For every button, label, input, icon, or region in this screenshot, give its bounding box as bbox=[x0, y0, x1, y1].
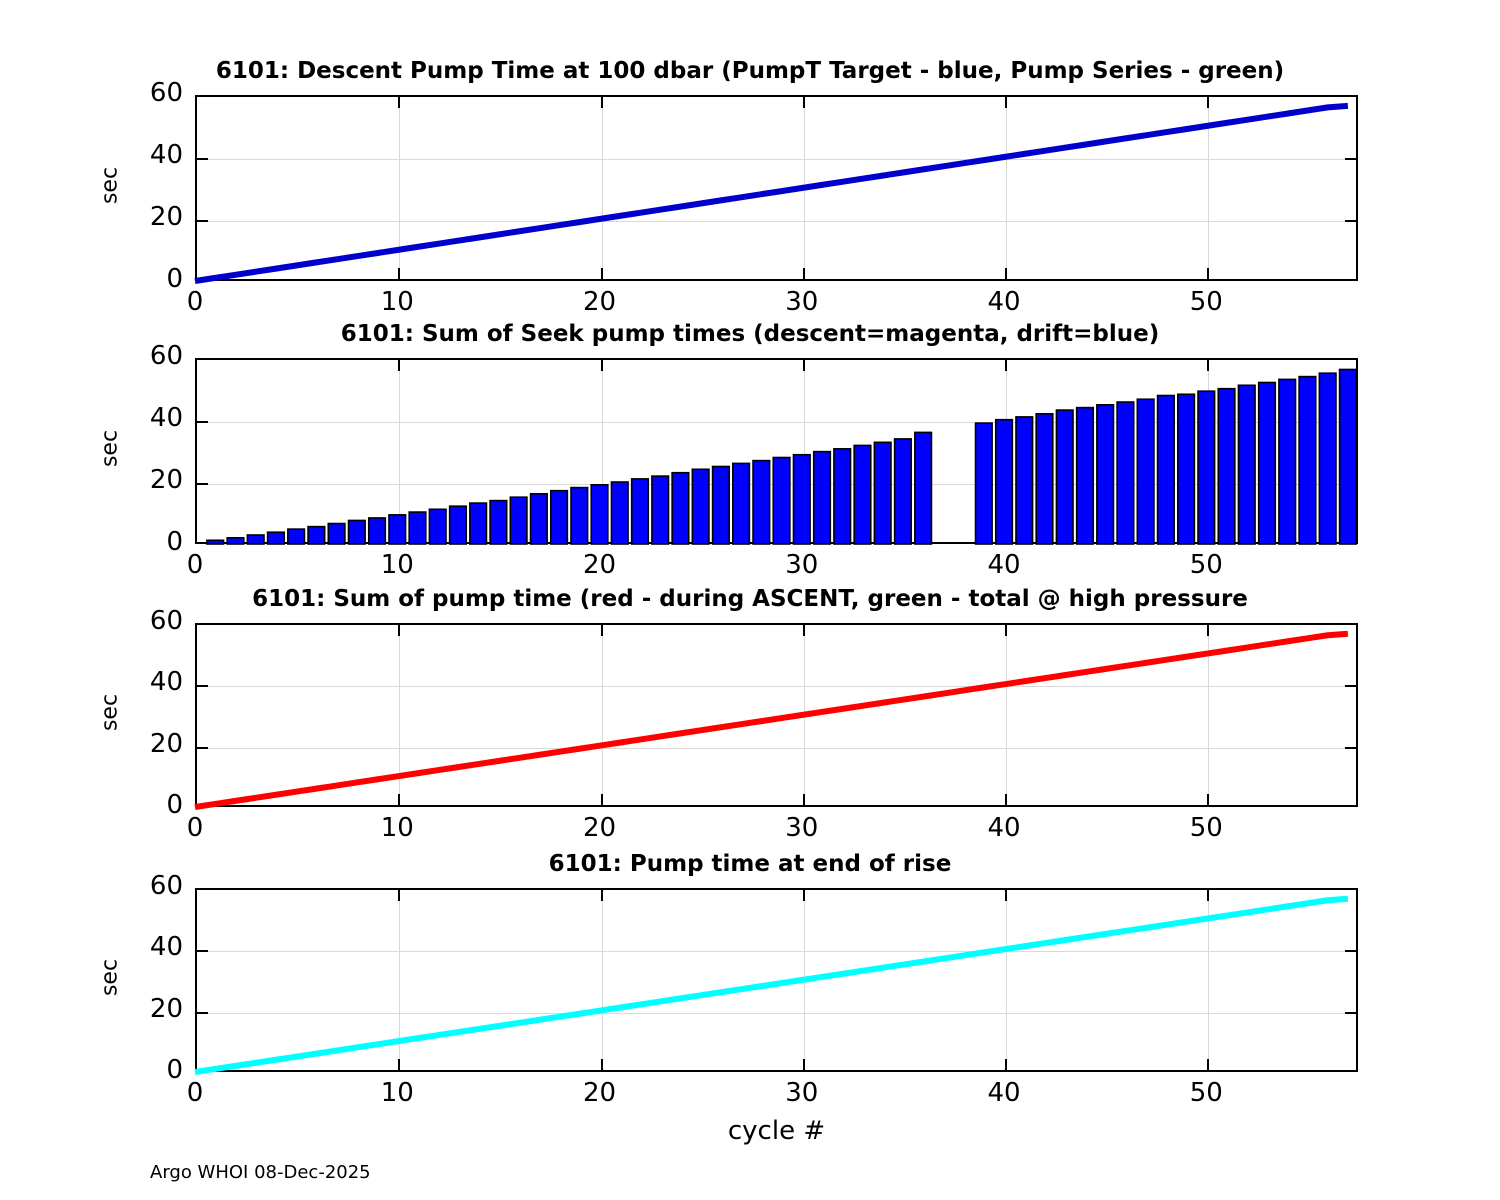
panel-2-title: 6101: Sum of Seek pump times (descent=ma… bbox=[0, 321, 1500, 347]
bar bbox=[814, 452, 831, 544]
bar bbox=[1299, 377, 1316, 544]
panel-3-ylabel: sec bbox=[98, 653, 123, 773]
bar bbox=[733, 463, 750, 544]
bar bbox=[692, 469, 709, 544]
bar bbox=[834, 449, 851, 544]
bar bbox=[247, 535, 264, 544]
bar bbox=[207, 540, 224, 544]
bar bbox=[1279, 379, 1296, 544]
panel-4-plot-area bbox=[195, 888, 1358, 1072]
panel-1-ylabel: sec bbox=[98, 126, 123, 246]
bar bbox=[793, 455, 810, 544]
ytick-label: 60 bbox=[95, 341, 183, 371]
bar bbox=[1319, 373, 1336, 544]
ytick-label: 60 bbox=[95, 78, 183, 108]
xtick-label: 10 bbox=[352, 287, 442, 317]
xtick-label: 20 bbox=[555, 287, 645, 317]
ytick-label: 60 bbox=[95, 606, 183, 636]
xtick-label: 0 bbox=[150, 550, 240, 580]
bar bbox=[854, 445, 871, 544]
xtick-label: 20 bbox=[555, 1078, 645, 1108]
xtick-label: 40 bbox=[959, 813, 1049, 843]
xtick-label: 30 bbox=[757, 813, 847, 843]
bar bbox=[773, 458, 790, 544]
xtick-label: 10 bbox=[352, 550, 442, 580]
bar bbox=[369, 518, 386, 544]
panel-2-plot-area bbox=[195, 358, 1358, 544]
panel-4-title: 6101: Pump time at end of rise bbox=[0, 851, 1500, 877]
bar bbox=[409, 512, 426, 544]
panel-1-plot-area bbox=[195, 95, 1358, 281]
xtick-label: 0 bbox=[150, 813, 240, 843]
panel-4-ylabel: sec bbox=[98, 918, 123, 1038]
bar bbox=[571, 488, 588, 544]
series-line bbox=[195, 899, 1348, 1072]
bar bbox=[1097, 405, 1114, 544]
bar bbox=[753, 461, 770, 544]
bar bbox=[591, 485, 608, 544]
bar bbox=[996, 420, 1013, 544]
footer-credit: Argo WHOI 08-Dec-2025 bbox=[150, 1162, 371, 1183]
bar bbox=[450, 506, 467, 544]
xtick-label: 10 bbox=[352, 813, 442, 843]
bar bbox=[328, 524, 345, 544]
bar bbox=[1340, 369, 1357, 544]
xtick-label: 50 bbox=[1161, 813, 1251, 843]
bar bbox=[227, 538, 244, 544]
xtick-label: 50 bbox=[1161, 287, 1251, 317]
xtick-label: 10 bbox=[352, 1078, 442, 1108]
xtick-label: 20 bbox=[555, 550, 645, 580]
bar bbox=[551, 491, 568, 544]
bar bbox=[1117, 402, 1134, 544]
bar bbox=[1137, 399, 1154, 544]
xtick-label: 40 bbox=[959, 287, 1049, 317]
bar bbox=[1077, 408, 1094, 544]
xtick-label: 0 bbox=[150, 1078, 240, 1108]
bar bbox=[308, 527, 325, 544]
bar bbox=[713, 467, 730, 545]
xtick-label: 40 bbox=[959, 1078, 1049, 1108]
bar bbox=[895, 439, 912, 544]
series-line bbox=[195, 106, 1348, 281]
bar bbox=[1016, 417, 1033, 544]
xtick-label: 30 bbox=[757, 287, 847, 317]
panel-3-plot-area bbox=[195, 623, 1358, 807]
xtick-label: 30 bbox=[757, 550, 847, 580]
bar bbox=[1178, 394, 1195, 544]
bar bbox=[1198, 391, 1215, 544]
bar bbox=[1238, 385, 1255, 544]
bar bbox=[976, 423, 993, 544]
xtick-label: 40 bbox=[959, 550, 1049, 580]
ytick-label: 60 bbox=[95, 871, 183, 901]
bar bbox=[652, 476, 669, 544]
panel-3-title: 6101: Sum of pump time (red - during ASC… bbox=[0, 586, 1500, 612]
bar bbox=[1218, 389, 1235, 544]
bar bbox=[389, 515, 406, 544]
bar bbox=[1158, 396, 1175, 544]
xtick-label: 20 bbox=[555, 813, 645, 843]
series-line bbox=[195, 634, 1348, 807]
bar bbox=[1259, 382, 1276, 544]
bar bbox=[268, 532, 285, 544]
bar bbox=[429, 509, 446, 544]
bar bbox=[1036, 414, 1053, 544]
bar bbox=[510, 497, 527, 544]
x-axis-label: cycle # bbox=[195, 1116, 1358, 1146]
figure-canvas: 6101: Descent Pump Time at 100 dbar (Pum… bbox=[0, 0, 1500, 1200]
bar bbox=[470, 503, 487, 544]
xtick-label: 50 bbox=[1161, 550, 1251, 580]
bar bbox=[632, 479, 649, 544]
panel-1-title: 6101: Descent Pump Time at 100 dbar (Pum… bbox=[0, 58, 1500, 84]
panel-2-ylabel: sec bbox=[98, 389, 123, 509]
bar bbox=[288, 529, 305, 544]
xtick-label: 30 bbox=[757, 1078, 847, 1108]
xtick-label: 0 bbox=[150, 287, 240, 317]
bar bbox=[672, 473, 689, 544]
bar bbox=[349, 520, 366, 544]
bar bbox=[531, 494, 548, 544]
bar bbox=[874, 442, 891, 544]
bar bbox=[915, 432, 932, 544]
bar bbox=[1056, 410, 1073, 544]
bar bbox=[490, 501, 507, 544]
xtick-label: 50 bbox=[1161, 1078, 1251, 1108]
bar bbox=[611, 482, 628, 544]
